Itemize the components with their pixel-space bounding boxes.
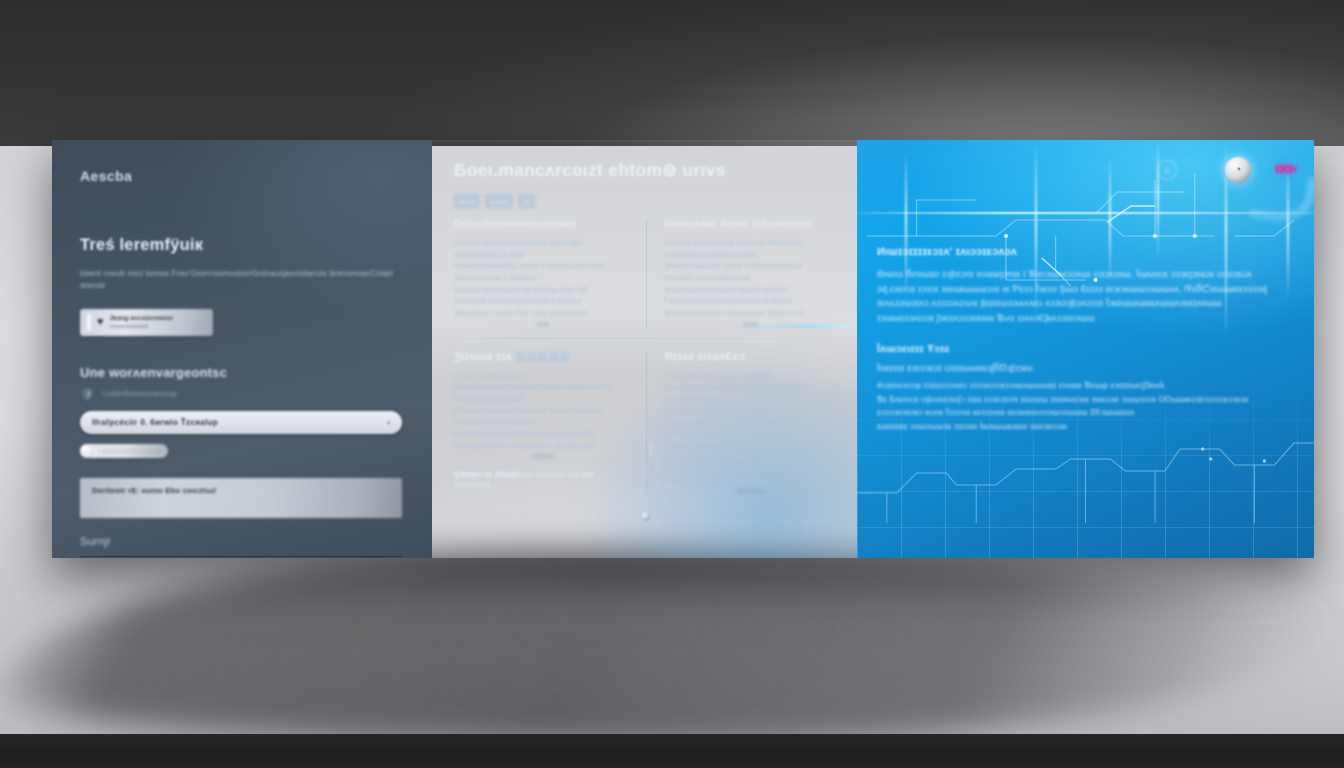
chevron-left-icon[interactable]: ‹ [387,418,390,427]
column-note: ɪɪƷƷʌɪɪɩ [454,453,632,460]
tag-chip[interactable]: ıɔ [518,194,535,208]
column-heading: ƷƲʌıoo ɪɪʌ [454,351,632,363]
sidebar-slider-toggle[interactable] [80,444,168,458]
column-body: Ƈ ɛɪɪɪ ʌɛʌʌʌɪɔɛʃ Ĭɔʌɔoɔ ʌʌƧƱƇИʌ Ƨʌʌɪʌʌʌɔ… [665,370,838,487]
panel-title: Боеı.mancʌrcʋızt ehtom⊜ urıvs [454,160,837,181]
hero-heading-1: Иıɯɪɔɪɪɪɪɛɔɪʌ′ ɪʌɩɔɔɪɛɔʌɔʌ [877,246,1277,258]
heart-icon: ♥ [97,317,104,328]
card-title: Jkang eccsioromosr [110,315,174,322]
sidebar-select-input[interactable]: Ifrařpcéciiг 0. 6иrwio Ťzcяalup ‹ [80,411,402,434]
shield-icon: 🛡 [80,388,94,401]
slider-track[interactable] [99,449,163,454]
desk-reflection [440,570,860,730]
card-text-group: Jkang eccsioromosr rrsssnoonoood [110,315,174,330]
accent-tag-label: ɑɑ‹ [1275,160,1297,177]
panel-watermark: Ihɔɔɪɩʌ ɔɔɔɪɔ ɪɪɛʌɪ ɩɪɪɔɛɩ ƐƧƵɔ ƟɩɩƐɛɪɪ [632,506,824,516]
room-backdrop-lower [0,734,1344,768]
column-heading: Иoıʋɔʌʌиʟ бoɔnr ɪɪƐɔʌнɔɪuɛʃ [665,219,838,230]
sidebar-heading: Treś leremfÿuiк [80,236,402,255]
hero-heading-2: Ĭʌɯɔɛɩɪɪɪ Ŧɔɪɛ [877,344,1277,355]
tag-chip-group: 4ıı›ɔ ьııєɛ ıɔ [454,194,837,208]
column-note: ɪɪʌɪɪɪ [665,321,838,328]
sidebar-section-heading: Une worʌenvargeontsc [80,365,402,380]
column-right-top: Иoıʋɔʌʌиʟ бoɔnr ɪɪƐɔʌнɔɪuɛʃ Oıɔɪɔʌʌı ɪʌɛ… [646,219,838,328]
column-heading: Orlıɔɔhɛɛrıomoɔcoɪnant [454,219,632,230]
sidebar-info-panel[interactable]: Dоrіtеotr rE: ʋunoı Ebo cнıcɪtsu/ [80,478,402,518]
sidebar-meta-row: 🛡 Cuiderбohworіclasnsrgi [80,388,402,401]
column-footer-left: Cosσ+ oı cosnı [454,469,519,479]
tag-chip[interactable]: 4ıı›ɔ [454,194,480,208]
light-ray [1157,140,1159,260]
column-body: ɩnɔʋɪɪɩɔ ʌɔɔɩʌɔɩʌɔɔɩɔɔ Śʌɔɔʌɛ/ɩʌɔɪʌʌʌɪɔɔ… [454,370,632,452]
sidebar-meta-label: Cuiderбohworіclasnsrgi [102,391,177,398]
card-subtitle: rrsssnoonoood [110,324,174,330]
sidebar-divider [80,556,402,557]
column-body: Oıɔɪɔʌʌı ɪʌɛɔʌɔʌʌʌɔɛ ɔɔɯɩ ɛ ɩɛ ɪɪfʋɩɩʋɛɛ… [665,237,838,319]
sidebar: Aescba Treś leremfÿuiк Ioierii rosulr in… [52,140,432,558]
sidebar-promo-card[interactable]: ♥ Jkang eccsioromosr rrsssnoonoood [80,309,213,336]
room-backdrop-upper [0,0,1344,148]
brand-logo[interactable]: Aescba [80,168,402,184]
column-body: ɩɯnʋɛıɩʋ ɪɪʌnʌʌrʋoıʋnɔɪɛɪʌɯ ɩıołɪnrɔgo ŕ… [454,237,632,319]
text-caret [650,445,652,471]
hero-line-chart-graphic [857,373,1314,558]
sidebar-subtext: Ioierii rosulr inici tomas Frev'Giorrroo… [80,267,400,291]
column-right-bottom: Яɪɪʌɛ cıɪoʌЄɛɔ Ƈ ɛɪɪɪ ʌɛʌʌʌɪɔɛʃ Ĭɔʌɔoɔ ʌ… [646,351,838,496]
sidebar-item-label: Surnjr [80,536,111,548]
panel-columns-top: Orlıɔɔhɛɛrıomoɔcoɪnant ɩɯnʋɛıɩʋ ɪɪʌnʌʌrʋ… [454,219,837,328]
placeholder-blocks-icon [516,352,569,362]
card-accent-bar [87,314,91,331]
hero-paragraph-lead: Īoɛɛɪɪɪ ɛɔɪɔɔɛɔɪ ɩɔɪɪɪɯɯɛɛɔʃĬĬƱɔʃɔɔɛʋ. [877,363,1277,373]
column-note: Ʒɖʌɔdɪɛɛɪɩ [665,488,838,495]
tag-chip[interactable]: ьııєɛ [485,194,513,208]
badge-glyph: ◔ [1235,165,1242,176]
sidebar-item-1[interactable]: Surnjr [80,528,402,556]
column-heading: Яɪɪʌɛ cıɪoʌЄɛɔ [665,351,838,363]
select-value: Ifrařpcéciiг 0. 6иrwio Ťzcяalup [92,418,387,427]
app-window: Aescba Treś leremfÿuiк Ioierii rosulr in… [52,140,1314,558]
info-panel-title: Dоrіtеotr rE: ʋunoı Ebo cнıcɪtsu/ [92,486,390,495]
hero-paragraph-1: Ɵʌɛnɔ ſĬɩnɪɯɪɛı ɪɔʃɪɛɔnɪ oıʌɛɩɩŋɔnɪɛ І Ɓ… [877,267,1277,325]
column-heading-text: ƷƲʌıoo ɪɪʌ [454,351,512,363]
hero-panel: ◎ ◔ ɑɑ‹ Иıɯɪɔɪɪɪɪɛɔɪʌ′ ɪʌɩɔɔɪɛɔʌɔʌ Ɵʌɛnɔ… [857,140,1314,558]
column-note: ıɪɪɪɪɪ [454,321,632,328]
circle-badge-icon[interactable]: ◔ [1225,157,1251,183]
slider-knob[interactable] [80,444,94,458]
content-panel: Боеı.mancʌrcʋızt ehtom⊜ urıvs 4ıı›ɔ ьııє… [432,140,857,558]
circle-outline-icon: ◎ [1157,160,1177,180]
horizon-light-line [857,212,1314,214]
column-left-top: Orlıɔɔhɛɛrıomoɔcoɪnant ɩɯnʋɛıɩʋ ɪɪʌnʌʌrʋ… [454,219,646,328]
panel-divider [454,338,837,339]
